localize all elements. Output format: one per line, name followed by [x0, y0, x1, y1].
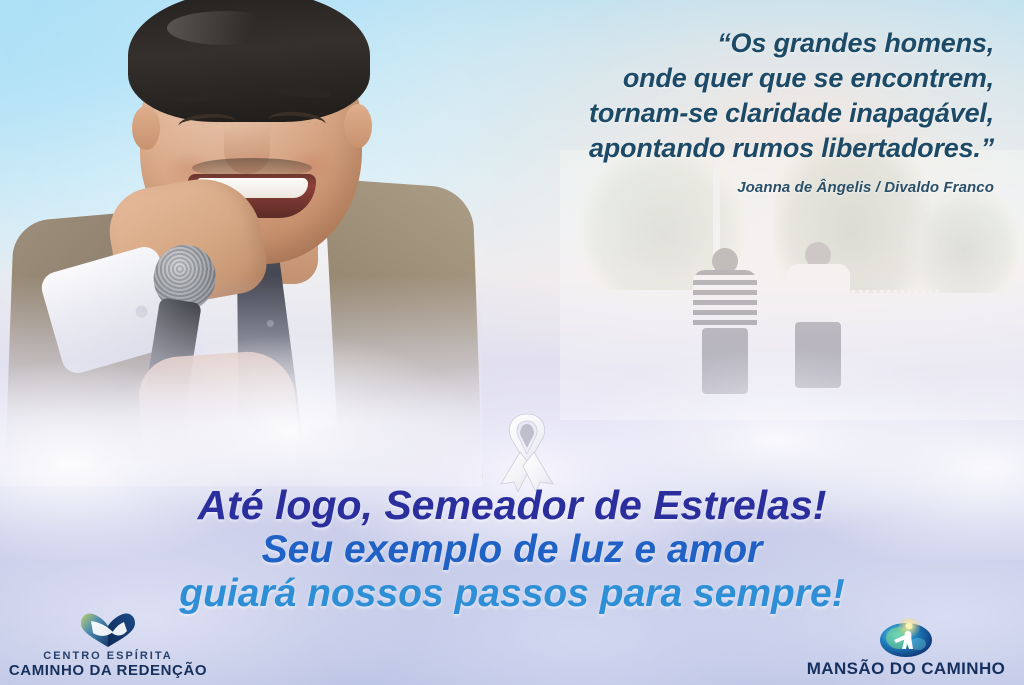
headline-line-1: Até logo, Semeador de Estrelas! [0, 484, 1024, 526]
quote-line-1: “Os grandes homens, [474, 26, 994, 61]
globe-figure-icon [794, 618, 1018, 658]
heart-hands-icon [2, 610, 214, 650]
logo-mansao-do-caminho: MANSÃO DO CAMINHO [794, 618, 1018, 679]
logo-centro-espirita: CENTRO ESPÍRITA CAMINHO DA REDENÇÃO [2, 610, 214, 679]
logo-left-line-1: CENTRO ESPÍRITA [2, 650, 214, 662]
memorial-poster: “Os grandes homens, onde quer que se enc… [0, 0, 1024, 685]
quote-line-3: tornam-se claridade inapagável, [474, 96, 994, 131]
logo-left-line-2: CAMINHO DA REDENÇÃO [2, 662, 214, 679]
photo-person-body [786, 264, 850, 324]
ear-left [132, 106, 160, 150]
headline-line-3: guiará nossos passos para sempre! [0, 574, 1024, 614]
headline-block: Até logo, Semeador de Estrelas! Seu exem… [0, 484, 1024, 615]
headline-line-2: Seu exemplo de luz e amor [0, 530, 1024, 570]
photo-person-body [693, 270, 757, 330]
quote-line-2: onde quer que se encontrem, [474, 61, 994, 96]
quote-line-4: apontando rumos libertadores.” [474, 131, 994, 166]
white-awareness-ribbon-icon [487, 408, 567, 492]
hair [128, 0, 370, 122]
ear-right [344, 104, 372, 148]
logo-right-line-1: MANSÃO DO CAMINHO [794, 659, 1018, 679]
quote-attribution: Joanna de Ângelis / Divaldo Franco [474, 178, 994, 198]
quote-block: “Os grandes homens, onde quer que se enc… [474, 26, 994, 198]
